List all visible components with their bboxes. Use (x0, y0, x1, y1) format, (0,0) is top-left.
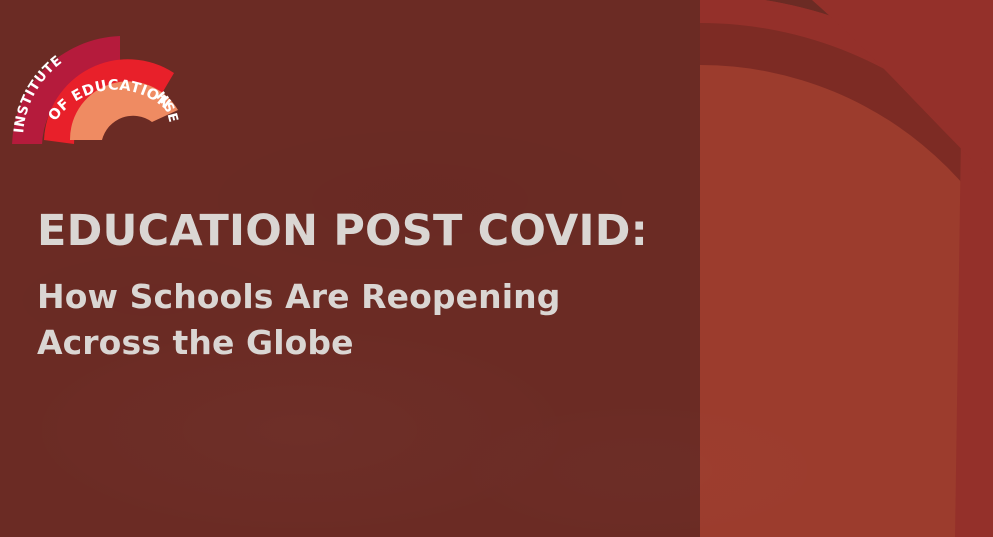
title-text-block: EDUCATION POST COVID: How Schools Are Re… (37, 205, 657, 366)
page-title: EDUCATION POST COVID: (37, 205, 657, 257)
page-subtitle-line-2: Across the Globe (37, 320, 657, 366)
ring-far-right-edge (955, 0, 993, 537)
page-subtitle: How Schools Are Reopening Across the Glo… (37, 274, 657, 366)
ring-sector-mask-lower-left (0, 415, 700, 537)
title-slide: INSTITUTE OF EDUCATION HSE EDUCATION POS… (0, 0, 993, 537)
ring-top-right-field (812, 0, 993, 180)
logo-graphic: INSTITUTE OF EDUCATION HSE (6, 22, 192, 144)
hse-institute-of-education-logo[interactable]: INSTITUTE OF EDUCATION HSE (6, 22, 192, 144)
page-subtitle-line-1: How Schools Are Reopening (37, 274, 657, 320)
